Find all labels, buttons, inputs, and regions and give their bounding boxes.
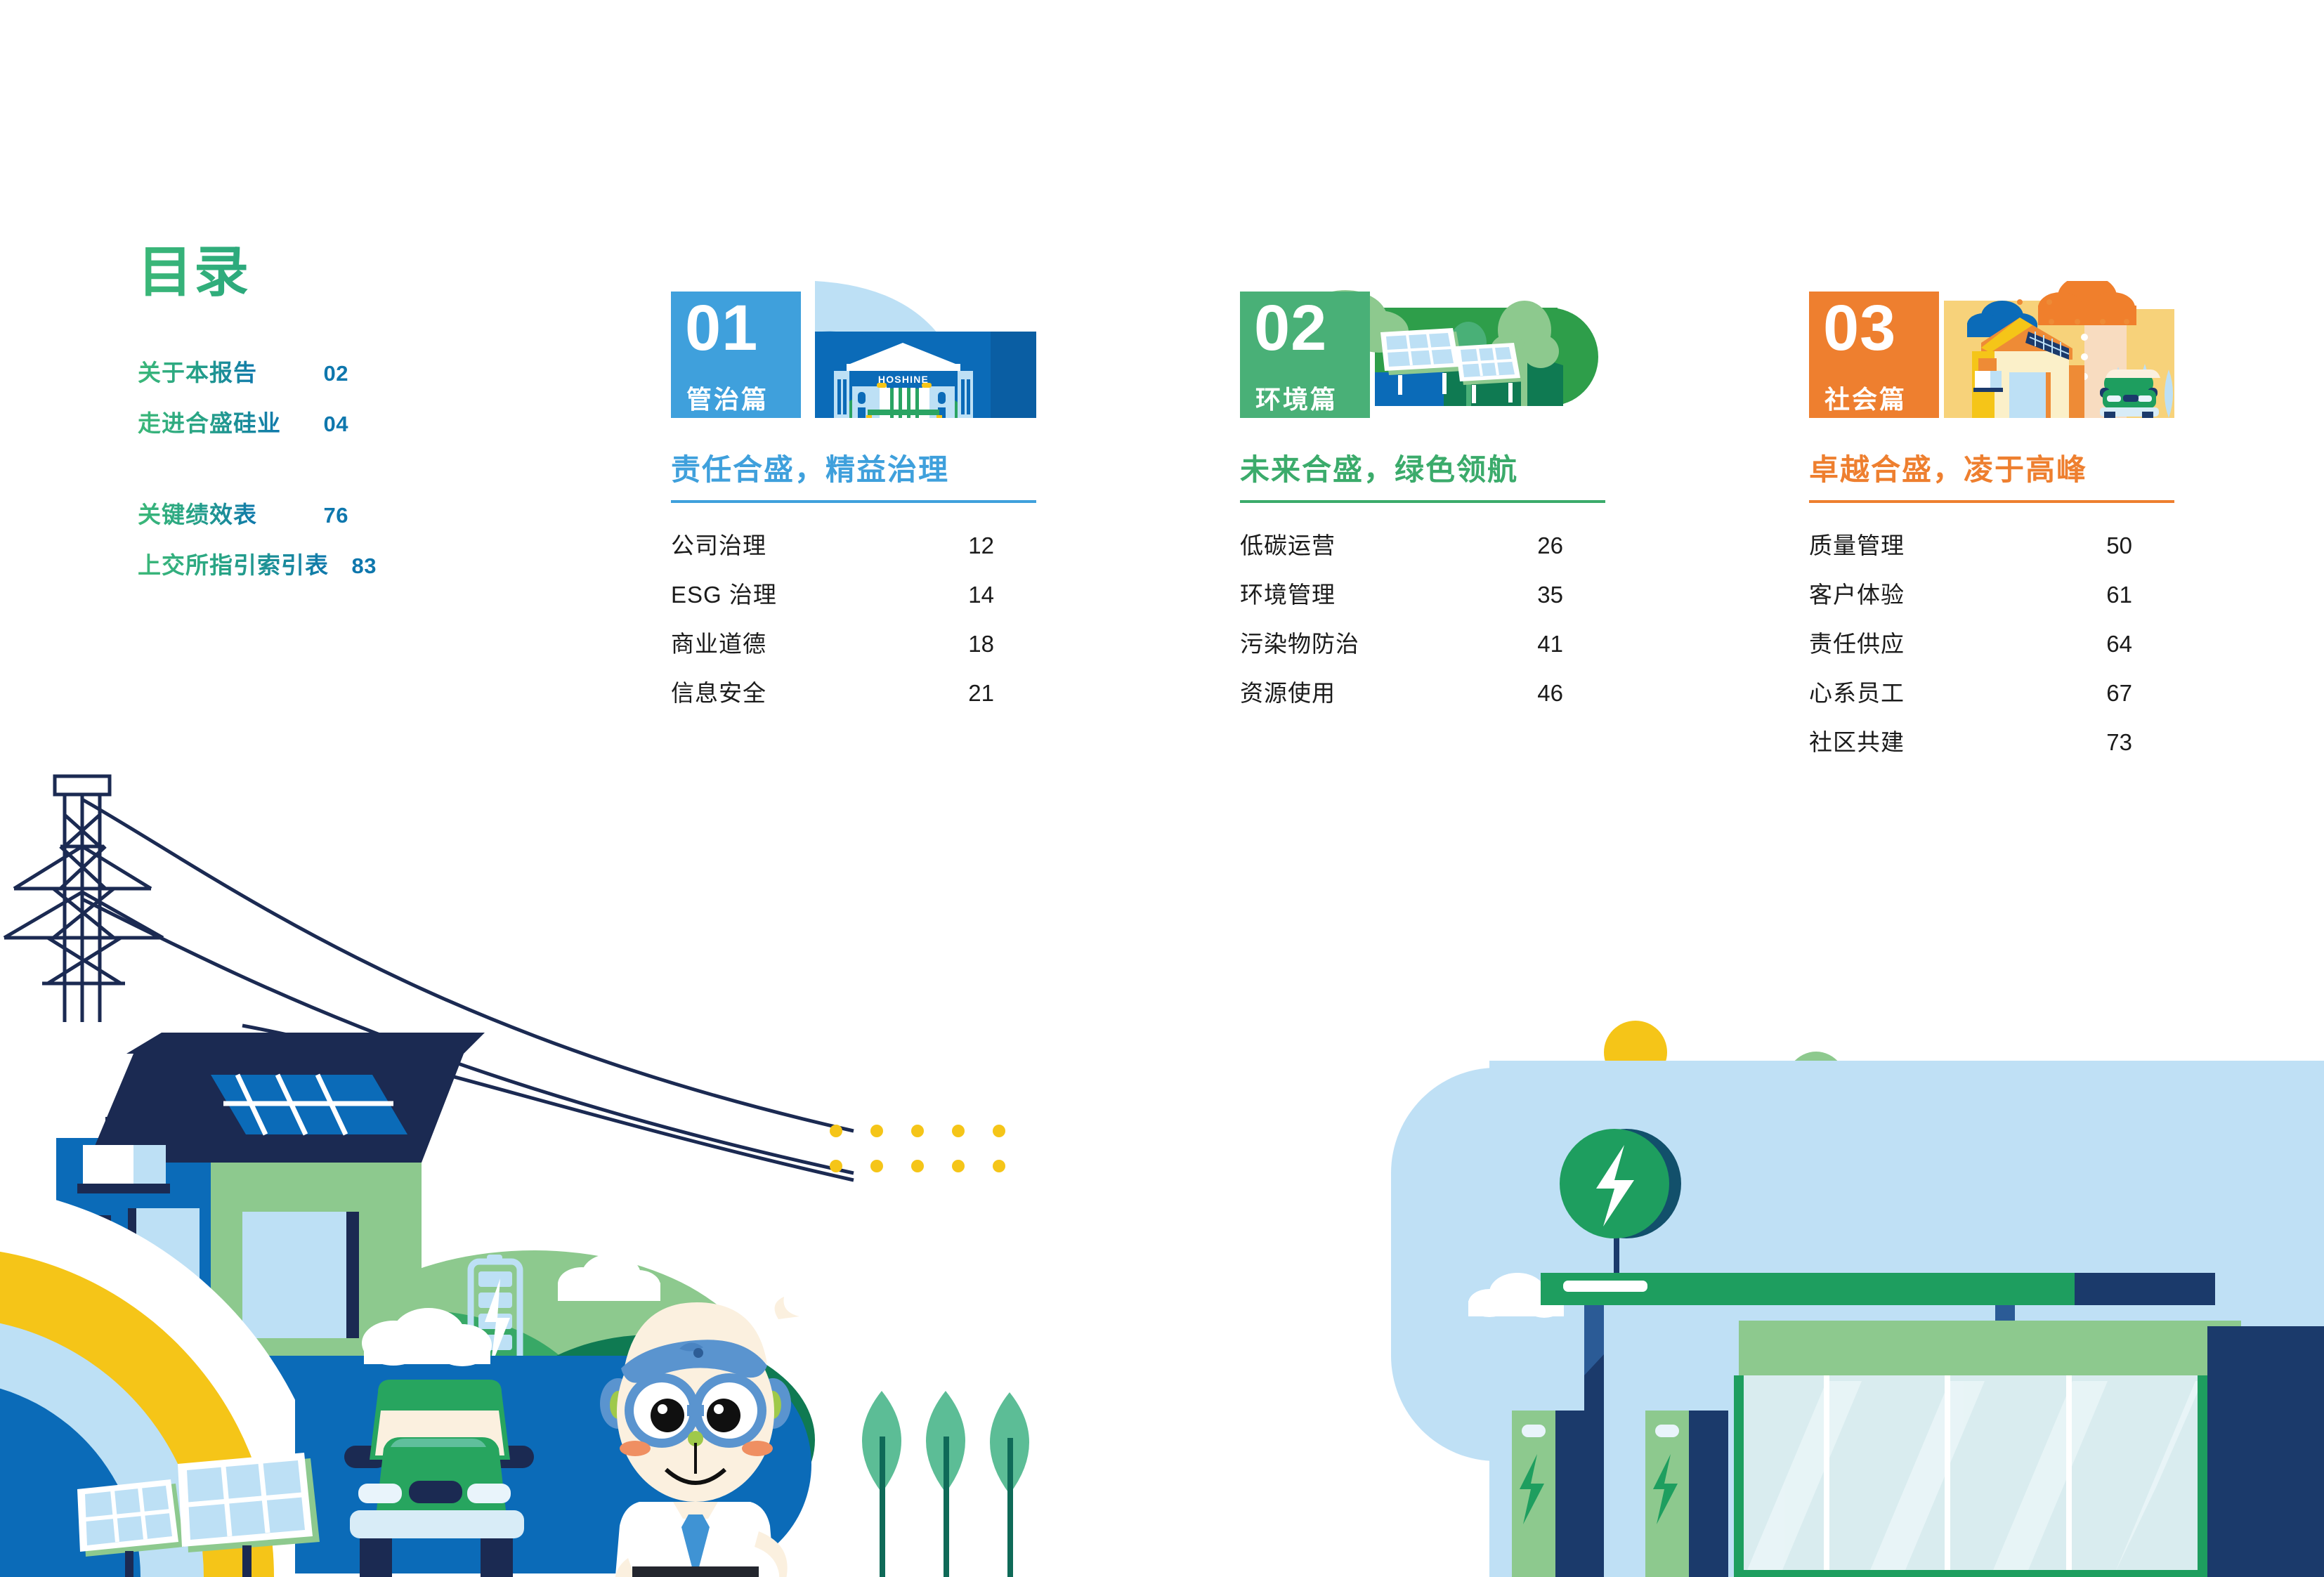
toc-row[interactable]: 关键绩效表 76 (138, 496, 587, 547)
item-page-number: 35 (1537, 582, 1591, 608)
item-label: 信息安全 (671, 674, 766, 708)
section-title: 未来合盛，绿色领航 (1240, 446, 1676, 489)
list-item[interactable]: 污染物防治 41 (1240, 625, 1591, 674)
charging-post-2 (1645, 1411, 1728, 1577)
section-badge-03: 03 社会篇 (1809, 292, 1939, 418)
station-store (1734, 1321, 2324, 1577)
cloud-small (362, 1308, 492, 1366)
item-page-number: 18 (968, 631, 1022, 657)
section-column-social: 03 社会篇 卓越合盛，凌于高峰 质量管理 50 客户体验 61 责任供应 64… (1809, 281, 2245, 773)
list-item[interactable]: 责任供应 64 (1809, 625, 2160, 674)
section-number: 03 (1823, 296, 1896, 360)
toc-label: 关于本报告 (138, 354, 257, 388)
list-item[interactable]: 信息安全 21 (671, 674, 1022, 724)
list-item[interactable]: 低碳运营 26 (1240, 527, 1591, 576)
section-subtitle: 管治篇 (686, 387, 769, 412)
mascot-character (600, 1297, 799, 1577)
green-car (2100, 369, 2160, 418)
item-label: 社区共建 (1809, 724, 1905, 757)
item-page-number: 41 (1537, 631, 1591, 657)
item-page-number: 50 (2106, 532, 2160, 559)
section-art-social: 03 社会篇 (1809, 281, 2174, 418)
leaf-trees (862, 1391, 1029, 1577)
item-page-number: 14 (968, 582, 1022, 608)
section-divider (671, 500, 1036, 503)
list-item[interactable]: 商业道德 18 (671, 625, 1022, 674)
page-title: 目录 (138, 244, 587, 299)
toc-page-number: 76 (324, 503, 587, 528)
item-page-number: 12 (968, 532, 1022, 559)
list-item[interactable]: 客户体验 61 (1809, 576, 2160, 625)
section-items-social: 质量管理 50 客户体验 61 责任供应 64 心系员工 67 社区共建 73 (1809, 527, 2160, 773)
section-title: 责任合盛，精益治理 (671, 446, 1106, 489)
list-item[interactable]: 公司治理 12 (671, 527, 1022, 576)
item-page-number: 64 (2106, 631, 2160, 657)
toc-label: 走进合盛硅业 (138, 405, 281, 438)
table-of-contents: 目录 关于本报告 02 走进合盛硅业 04 关键绩效表 76 上交所指引索引表 … (138, 244, 587, 597)
item-label: 客户体验 (1809, 576, 1905, 610)
charging-post-1 (1512, 1411, 1595, 1577)
item-page-number: 46 (1537, 680, 1591, 707)
toc-page-number: 04 (324, 412, 587, 437)
list-item[interactable]: ESG 治理 14 (671, 576, 1022, 625)
section-items-governance: 公司治理 12 ESG 治理 14 商业道德 18 信息安全 21 (671, 527, 1022, 724)
item-label: 环境管理 (1240, 576, 1336, 610)
section-subtitle: 环境篇 (1255, 387, 1338, 412)
item-label: 心系员工 (1809, 674, 1905, 708)
section-title: 卓越合盛，凌于高峰 (1809, 446, 2245, 489)
item-label: 污染物防治 (1240, 625, 1359, 659)
section-badge-01: 01 管治篇 (671, 292, 801, 418)
section-column-governance: HOSHINE (671, 281, 1106, 724)
item-page-number: 61 (2106, 582, 2160, 608)
section-column-environment: 02 环境篇 未来合盛，绿色领航 低碳运营 26 环境管理 35 污染物防治 4… (1240, 281, 1676, 724)
list-item[interactable]: 社区共建 73 (1809, 724, 2160, 773)
section-subtitle: 社会篇 (1824, 387, 1907, 412)
toc-label: 上交所指引索引表 (138, 547, 329, 580)
item-label: 公司治理 (671, 527, 766, 561)
toc-page: 目录 关于本报告 02 走进合盛硅业 04 关键绩效表 76 上交所指引索引表 … (0, 0, 2324, 1577)
item-page-number: 67 (2106, 680, 2160, 707)
list-item[interactable]: 环境管理 35 (1240, 576, 1591, 625)
item-page-number: 21 (968, 680, 1022, 707)
section-divider (1809, 500, 2174, 503)
green-car (344, 1380, 534, 1577)
list-item[interactable]: 质量管理 50 (1809, 527, 2160, 576)
item-label: 商业道德 (671, 625, 766, 659)
section-badge-02: 02 环境篇 (1240, 292, 1370, 418)
section-art-governance: HOSHINE (671, 281, 1036, 418)
list-item[interactable]: 资源使用 46 (1240, 674, 1591, 724)
section-art-environment: 02 环境篇 (1240, 281, 1605, 418)
item-label: 低碳运营 (1240, 527, 1336, 561)
list-item[interactable]: 心系员工 67 (1809, 674, 2160, 724)
section-divider (1240, 500, 1605, 503)
toc-page-number: 83 (352, 554, 587, 579)
toc-group-appendix: 关键绩效表 76 上交所指引索引表 83 (138, 496, 587, 597)
dot-grid-pattern (829, 1124, 1012, 1335)
item-label: 资源使用 (1240, 674, 1336, 708)
cloud-medium (558, 1254, 660, 1301)
toc-group-primary: 关于本报告 02 走进合盛硅业 04 (138, 354, 587, 455)
toc-page-number: 02 (324, 361, 587, 386)
item-page-number: 73 (2106, 729, 2160, 756)
charging-station-illustration (1377, 969, 2324, 1577)
toc-row[interactable]: 走进合盛硅业 04 (138, 405, 587, 455)
item-label: ESG 治理 (671, 576, 777, 610)
toc-label: 关键绩效表 (138, 496, 257, 530)
section-items-environment: 低碳运营 26 环境管理 35 污染物防治 41 资源使用 46 (1240, 527, 1591, 724)
section-number: 01 (685, 296, 758, 360)
toc-row[interactable]: 关于本报告 02 (138, 354, 587, 405)
cloud-orange (2038, 281, 2136, 325)
mascot-and-car-scene (337, 1236, 1180, 1577)
toc-row[interactable]: 上交所指引索引表 83 (138, 547, 587, 597)
section-number: 02 (1254, 296, 1327, 360)
item-label: 责任供应 (1809, 625, 1905, 659)
item-page-number: 26 (1537, 532, 1591, 559)
item-label: 质量管理 (1809, 527, 1905, 561)
